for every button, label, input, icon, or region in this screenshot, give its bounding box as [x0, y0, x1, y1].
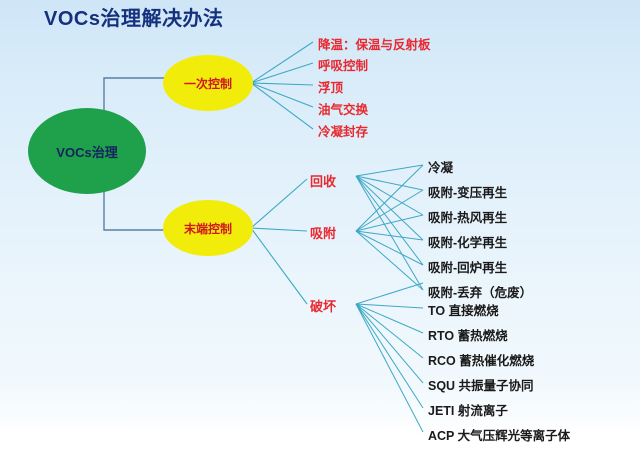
group-label-adsorption[interactable]: 吸附	[310, 223, 336, 242]
leaf-adsorption-1: 吸附-变压再生	[428, 182, 507, 201]
leaf-primary-2: 呼吸控制	[318, 55, 368, 74]
leaf-adsorption-4: 吸附-回炉再生	[428, 257, 507, 276]
primary-control-fan	[251, 42, 313, 129]
leaf-destruction-1: TO 直接燃烧	[428, 300, 499, 319]
leaf-primary-5: 冷凝封存	[318, 121, 368, 140]
leaf-primary-3: 浮顶	[318, 77, 343, 96]
diagram-canvas: VOCs治理解决办法 VOCs治理 一次控制 末端控制 降温：保温与反射板 呼吸…	[0, 0, 640, 450]
leaf-destruction-5: JETI 射流离子	[428, 400, 508, 419]
leaf-adsorption-5: 吸附-丢弃（危废）	[428, 282, 532, 301]
adsorption-fan	[356, 165, 423, 290]
leaf-destruction-3: RCO 蓄热催化燃烧	[428, 350, 534, 369]
node-root[interactable]: VOCs治理	[28, 108, 146, 194]
group-label-recovery[interactable]: 回收	[310, 171, 336, 190]
leaf-destruction-4: SQU 共振量子协同	[428, 375, 534, 394]
page-title: VOCs治理解决办法	[44, 2, 223, 31]
node-terminal-control[interactable]: 末端控制	[163, 200, 253, 256]
leaf-destruction-6: ACP 大气压辉光等离子体	[428, 425, 570, 444]
leaf-adsorption-2: 吸附-热风再生	[428, 207, 507, 226]
terminal-control-fan	[251, 179, 307, 304]
leaf-recovery-1: 冷凝	[428, 157, 453, 176]
leaf-adsorption-3: 吸附-化学再生	[428, 232, 507, 251]
group-label-destruction[interactable]: 破坏	[310, 296, 336, 315]
leaf-primary-4: 油气交换	[318, 99, 368, 118]
recovery-fan	[356, 165, 423, 290]
leaf-primary-1: 降温：保温与反射板	[318, 34, 431, 53]
node-primary-control[interactable]: 一次控制	[163, 55, 253, 111]
leaf-destruction-2: RTO 蓄热燃烧	[428, 325, 508, 344]
destruction-fan	[356, 283, 423, 432]
